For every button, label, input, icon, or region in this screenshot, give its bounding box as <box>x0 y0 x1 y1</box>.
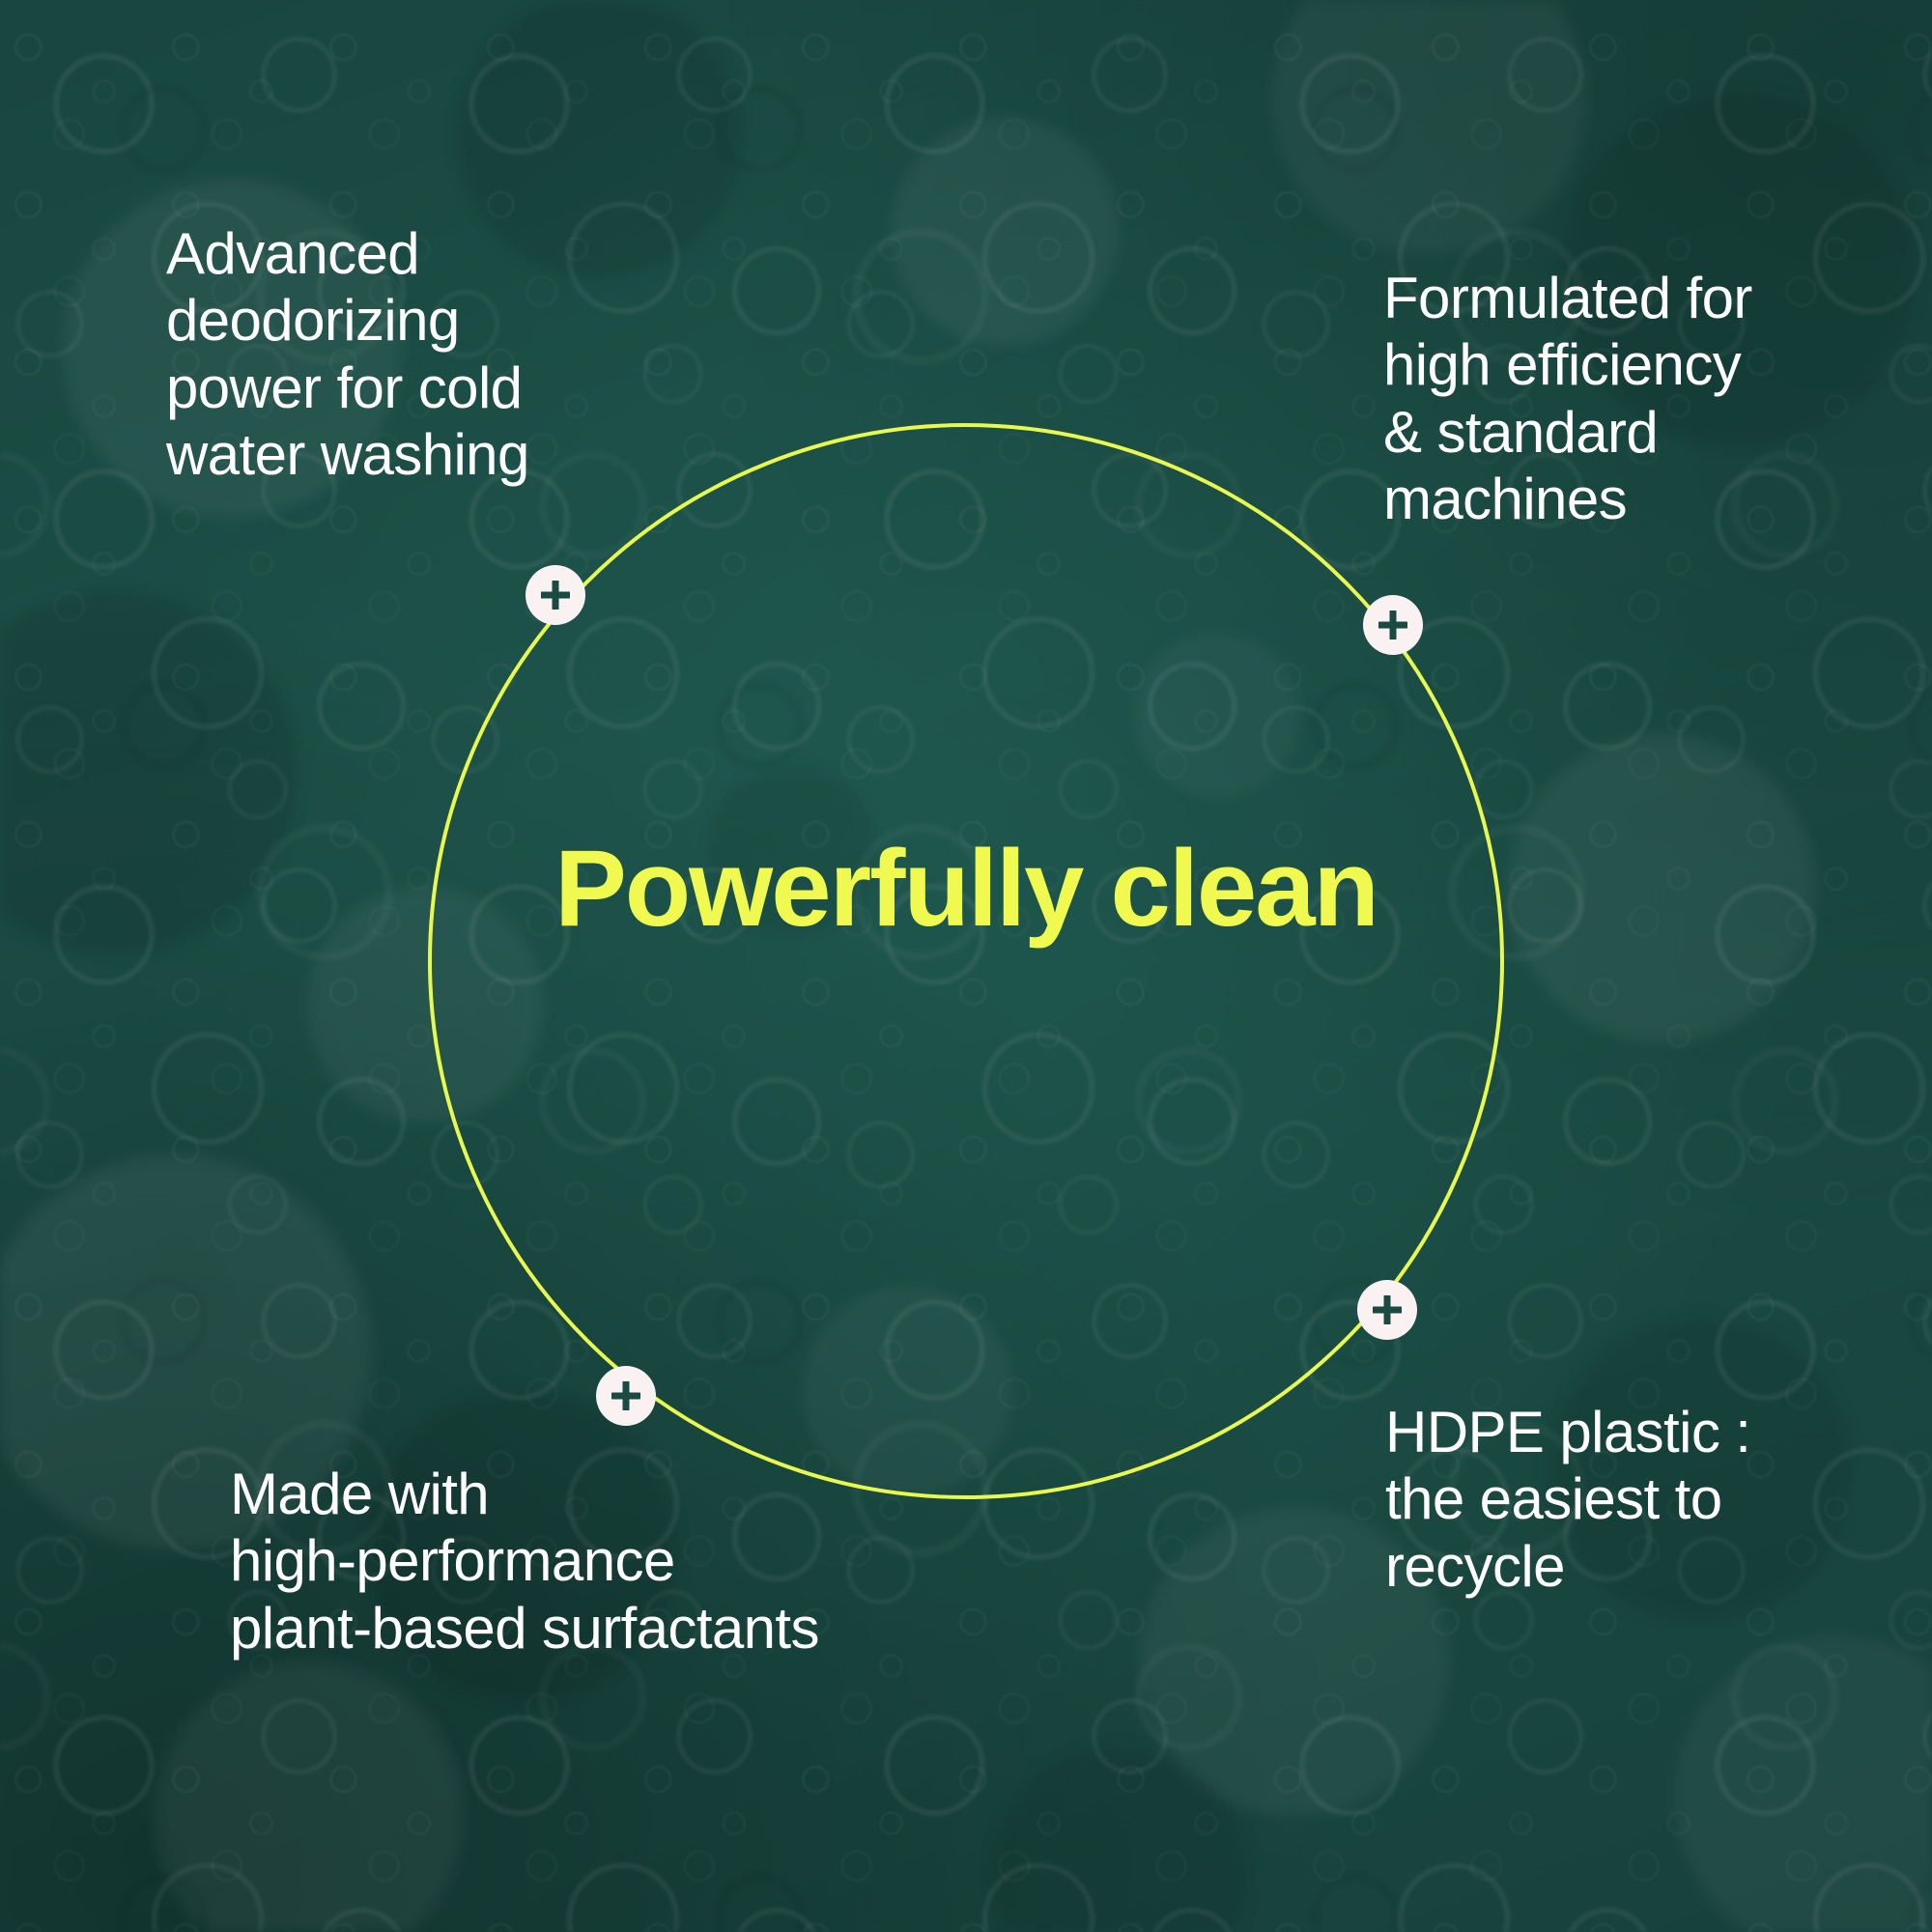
center-headline: Powerfully clean <box>428 826 1504 952</box>
plus-marker-cold-water-washing[interactable] <box>526 565 585 625</box>
plus-icon <box>539 579 572 611</box>
plus-icon <box>1377 609 1409 641</box>
plus-marker-high-efficiency-machines[interactable] <box>1363 595 1423 655</box>
accent-circle-outline <box>428 423 1504 1499</box>
callout-hdpe-plastic-recycling: HDPE plastic : the easiest to recycle <box>1385 1399 1868 1600</box>
plus-marker-plant-based-surfactants[interactable] <box>596 1366 656 1426</box>
callout-cold-water-washing: Advanced deodorizing power for cold wate… <box>166 220 668 488</box>
plus-icon <box>610 1379 642 1412</box>
plus-marker-hdpe-plastic-recycling[interactable] <box>1357 1280 1417 1340</box>
callout-high-efficiency-machines: Formulated for high efficiency & standar… <box>1383 265 1886 532</box>
infographic-canvas: Powerfully clean <box>0 0 1932 1932</box>
plus-icon <box>1371 1293 1404 1326</box>
callout-plant-based-surfactants: Made with high-performance plant-based s… <box>230 1461 1003 1662</box>
